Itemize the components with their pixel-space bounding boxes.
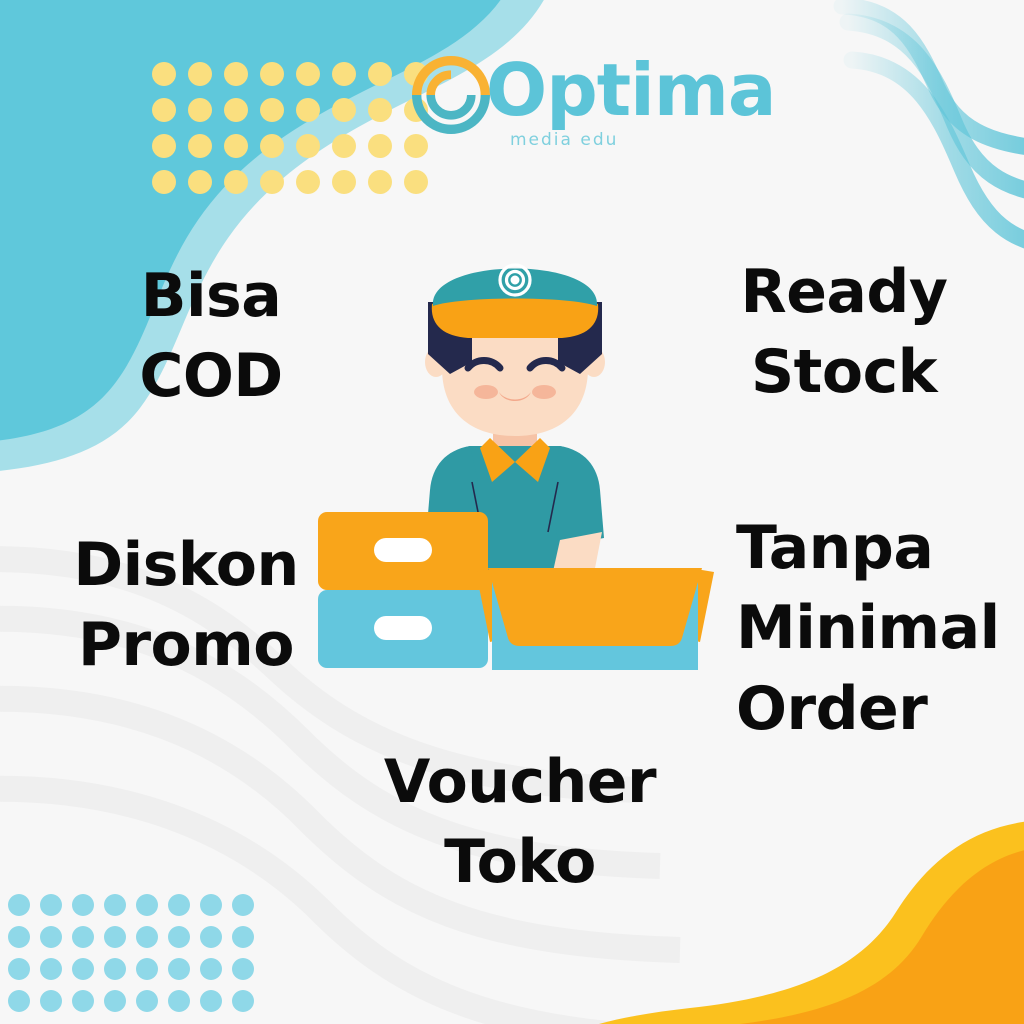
open-box-interior	[488, 568, 702, 646]
blue-dot	[40, 926, 62, 948]
brand-tagline: media edu	[510, 130, 618, 150]
yellow-dot	[224, 62, 248, 86]
blue-dot	[72, 894, 94, 916]
yellow-dot	[296, 62, 320, 86]
yellow-dot	[260, 62, 284, 86]
yellow-dot	[260, 170, 284, 194]
blue-dot	[104, 894, 126, 916]
blue-dot	[168, 894, 190, 916]
blue-dot	[104, 926, 126, 948]
stacked-box-top-handle	[374, 538, 432, 562]
blue-dot	[72, 990, 94, 1012]
yellow-dot	[368, 98, 392, 122]
headline-diskon-promo: Diskon Promo	[52, 525, 320, 686]
blue-dot	[168, 990, 190, 1012]
blue-dot	[72, 958, 94, 980]
yellow-dot	[296, 134, 320, 158]
blue-dot	[8, 990, 30, 1012]
yellow-dot	[368, 170, 392, 194]
blue-dot	[40, 990, 62, 1012]
yellow-dot	[188, 134, 212, 158]
blue-dot	[200, 958, 222, 980]
blue-dot	[136, 958, 158, 980]
shirt-sleeve-right	[552, 446, 604, 546]
blue-dot	[136, 894, 158, 916]
brand-logo: Optima media edu	[412, 48, 682, 148]
yellow-dot	[260, 134, 284, 158]
yellow-dot	[152, 98, 176, 122]
yellow-dot	[224, 98, 248, 122]
headline-ready-stock: Ready Stock	[716, 252, 972, 413]
headline-tanpa-minimal-order: Tanpa Minimal Order	[736, 508, 1016, 749]
blue-dot	[200, 894, 222, 916]
split-ring-logo-icon	[412, 56, 490, 134]
blue-dot	[8, 894, 30, 916]
stacked-boxes	[318, 512, 488, 668]
yellow-dot	[152, 62, 176, 86]
yellow-dot	[152, 134, 176, 158]
blue-dot	[168, 958, 190, 980]
blue-dot	[72, 926, 94, 948]
courier-with-boxes-illustration	[300, 250, 730, 670]
blue-dot	[232, 926, 254, 948]
blue-dot	[104, 990, 126, 1012]
promotional-poster: Optima media edu Bisa COD Ready Stock Di…	[0, 0, 1024, 1024]
yellow-dot	[368, 62, 392, 86]
yellow-dot	[296, 170, 320, 194]
yellow-dot	[332, 98, 356, 122]
stacked-box-bottom-handle	[374, 616, 432, 640]
bottom-right-blob-front	[740, 846, 1024, 1024]
blue-dot	[136, 926, 158, 948]
blue-dot	[136, 990, 158, 1012]
blue-dot	[40, 958, 62, 980]
blue-dot	[8, 958, 30, 980]
blue-dot	[40, 894, 62, 916]
blue-dot	[200, 926, 222, 948]
cap-brim	[432, 297, 598, 339]
top-right-wave-group	[842, 6, 1024, 248]
yellow-dot	[368, 134, 392, 158]
yellow-dot	[188, 62, 212, 86]
yellow-dot	[404, 170, 428, 194]
blue-dot	[200, 990, 222, 1012]
yellow-dot	[224, 170, 248, 194]
yellow-dot	[224, 134, 248, 158]
blue-dot	[232, 990, 254, 1012]
blue-dot	[232, 894, 254, 916]
yellow-dot-grid	[152, 62, 352, 182]
cheek-left	[474, 385, 498, 399]
brand-wordmark: Optima	[486, 54, 775, 126]
yellow-dot	[188, 98, 212, 122]
blue-dot	[168, 926, 190, 948]
yellow-dot	[332, 170, 356, 194]
blue-dot-grid	[8, 894, 208, 1014]
blue-dot	[8, 926, 30, 948]
headline-voucher-toko: Voucher Toko	[360, 742, 680, 903]
cheek-right	[532, 385, 556, 399]
yellow-dot	[188, 170, 212, 194]
yellow-dot	[332, 62, 356, 86]
yellow-dot	[260, 98, 284, 122]
headline-bisa-cod: Bisa COD	[86, 256, 336, 417]
blue-dot	[232, 958, 254, 980]
yellow-dot	[152, 170, 176, 194]
blue-dot	[104, 958, 126, 980]
yellow-dot	[296, 98, 320, 122]
open-box	[476, 568, 714, 670]
yellow-dot	[332, 134, 356, 158]
